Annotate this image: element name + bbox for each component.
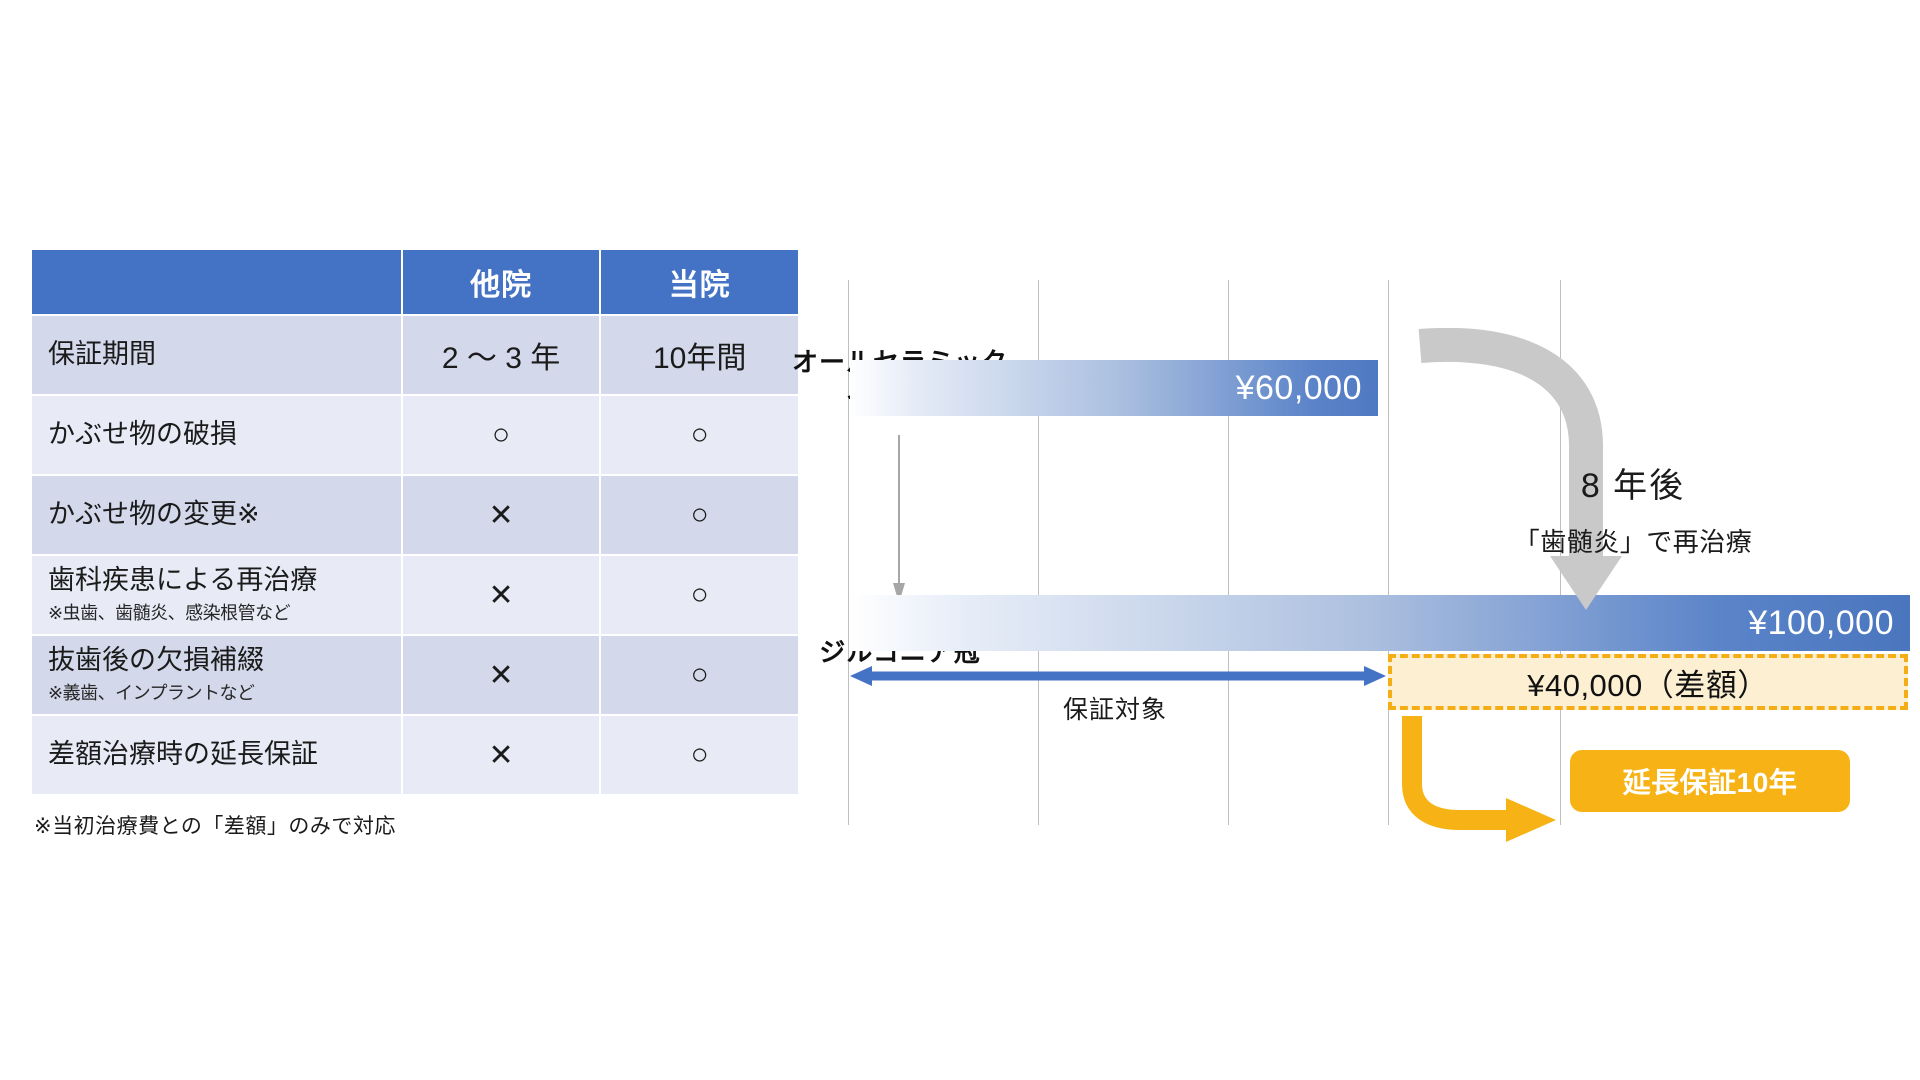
table-row: かぶせ物の変更※ ✕ ○ xyxy=(32,476,798,554)
difference-amount-box: ¥40,000（差額） xyxy=(1388,654,1908,710)
table-footnote: ※当初治療費との「差額」のみで対応 xyxy=(34,810,800,840)
row-value-other: ✕ xyxy=(403,716,600,794)
row-label-cell: 差額治療時の延長保証 xyxy=(32,716,401,794)
row-sublabel: ※義歯、インプラントなど xyxy=(48,679,401,705)
row-value-ours: ○ xyxy=(601,716,798,794)
row-label: 歯科疾患による再治療 xyxy=(48,565,401,596)
row-label: 保証期間 xyxy=(48,339,401,370)
row-value-other: 2 〜 3 年 xyxy=(403,316,600,394)
annotation-years-later: 8 年後 xyxy=(1448,458,1818,507)
row-value-ours: ○ xyxy=(601,396,798,474)
row-label: かぶせ物の変更※ xyxy=(48,499,401,530)
warranty-span-arrow-icon xyxy=(848,665,1388,687)
orange-elbow-arrow-icon xyxy=(1390,712,1590,852)
extension-warranty-badge: 延長保証10年 xyxy=(1570,750,1850,812)
comparison-table: 他院 当院 保証期間 2 〜 3 年 10年間 かぶせ物の破損 ○ ○ xyxy=(30,248,800,796)
row-label-cell: 歯科疾患による再治療 ※虫歯、歯髄炎、感染根管など xyxy=(32,556,401,634)
table-row: 保証期間 2 〜 3 年 10年間 xyxy=(32,316,798,394)
row-value-ours: 10年間 xyxy=(601,316,798,394)
table-header-our-clinic: 当院 xyxy=(601,250,798,314)
cost-bar-zirconia-crown: ¥100,000 xyxy=(850,595,1910,651)
table-body: 保証期間 2 〜 3 年 10年間 かぶせ物の破損 ○ ○ かぶせ物の変更※ ✕… xyxy=(32,316,798,794)
table-row: 抜歯後の欠損補綴 ※義歯、インプラントなど ✕ ○ xyxy=(32,636,798,714)
cost-bar-ceramic-inlay-amount: ¥60,000 xyxy=(1236,369,1378,408)
row-label-cell: 抜歯後の欠損補綴 ※義歯、インプラントなど xyxy=(32,636,401,714)
annotation-retreatment-reason: 「歯髄炎」で再治療 xyxy=(1428,522,1838,559)
row-sublabel: ※虫歯、歯髄炎、感染根管など xyxy=(48,599,401,625)
gridline xyxy=(1388,280,1389,825)
table-header-blank xyxy=(32,250,401,314)
row-value-other: ✕ xyxy=(403,636,600,714)
cost-bar-ceramic-inlay: ¥60,000 xyxy=(850,360,1378,416)
table-row: 差額治療時の延長保証 ✕ ○ xyxy=(32,716,798,794)
row-label-cell: 保証期間 xyxy=(32,316,401,394)
row-label: 抜歯後の欠損補綴 xyxy=(48,645,401,676)
row-value-other: ○ xyxy=(403,396,600,474)
row-value-ours: ○ xyxy=(601,636,798,714)
table-header: 他院 当院 xyxy=(32,250,798,314)
row-value-other: ✕ xyxy=(403,476,600,554)
row-value-ours: ○ xyxy=(601,476,798,554)
table-row: かぶせ物の破損 ○ ○ xyxy=(32,396,798,474)
row-value-ours: ○ xyxy=(601,556,798,634)
cost-bar-zirconia-crown-amount: ¥100,000 xyxy=(1748,604,1910,643)
warranty-coverage-label: 保証対象 xyxy=(985,690,1245,726)
comparison-table-panel: 他院 当院 保証期間 2 〜 3 年 10年間 かぶせ物の破損 ○ ○ xyxy=(30,248,800,840)
row-value-other: ✕ xyxy=(403,556,600,634)
table-header-other-clinic: 他院 xyxy=(403,250,600,314)
table-header-row: 他院 当院 xyxy=(32,250,798,314)
row-label: 差額治療時の延長保証 xyxy=(48,739,401,770)
extension-warranty-badge-label: 延長保証10年 xyxy=(1623,761,1798,801)
row-label: かぶせ物の破損 xyxy=(48,419,401,450)
table-row: 歯科疾患による再治療 ※虫歯、歯髄炎、感染根管など ✕ ○ xyxy=(32,556,798,634)
down-arrow-icon xyxy=(892,435,906,605)
difference-amount-text: ¥40,000（差額） xyxy=(1527,660,1769,705)
row-label-cell: かぶせ物の変更※ xyxy=(32,476,401,554)
row-label-cell: かぶせ物の破損 xyxy=(32,396,401,474)
cost-warranty-diagram: オールセラミック インレー ジルコニア冠 ¥60,000 ¥100,000 8 … xyxy=(800,250,1910,950)
